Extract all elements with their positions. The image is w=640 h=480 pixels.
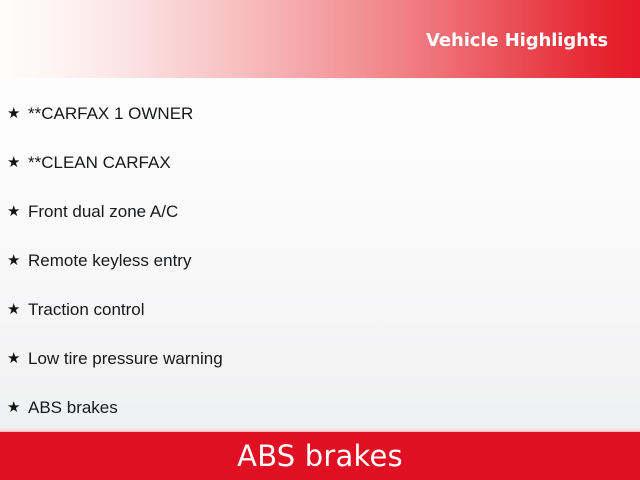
star-bullet-icon: ★	[7, 351, 28, 366]
footer-caption: ABS brakes	[237, 439, 403, 473]
star-bullet-icon: ★	[7, 302, 28, 317]
vehicle-highlights-slide: Vehicle Highlights ★ **CARFAX 1 OWNER ★ …	[0, 0, 640, 480]
list-item-label: ABS brakes	[28, 398, 118, 418]
list-item-label: **CLEAN CARFAX	[28, 153, 171, 173]
list-item: ★ **CARFAX 1 OWNER	[0, 89, 640, 138]
highlights-list: ★ **CARFAX 1 OWNER ★ **CLEAN CARFAX ★ Fr…	[0, 89, 640, 432]
header-banner: Vehicle Highlights	[0, 0, 640, 78]
list-item: ★ ABS brakes	[0, 383, 640, 432]
star-bullet-icon: ★	[7, 106, 28, 121]
list-item: ★ **CLEAN CARFAX	[0, 138, 640, 187]
list-item-label: Remote keyless entry	[28, 251, 191, 271]
star-bullet-icon: ★	[7, 155, 28, 170]
list-item-label: Front dual zone A/C	[28, 202, 178, 222]
list-item: ★ Front dual zone A/C	[0, 187, 640, 236]
star-bullet-icon: ★	[7, 253, 28, 268]
list-item: ★ Remote keyless entry	[0, 236, 640, 285]
star-bullet-icon: ★	[7, 204, 28, 219]
list-item-label: Traction control	[28, 300, 145, 320]
list-item: ★ Traction control	[0, 285, 640, 334]
star-bullet-icon: ★	[7, 400, 28, 415]
list-item-label: **CARFAX 1 OWNER	[28, 104, 193, 124]
list-item: ★ Low tire pressure warning	[0, 334, 640, 383]
footer-banner: ABS brakes	[0, 432, 640, 480]
list-item-label: Low tire pressure warning	[28, 349, 223, 369]
page-title: Vehicle Highlights	[426, 30, 608, 52]
highlights-panel: ★ **CARFAX 1 OWNER ★ **CLEAN CARFAX ★ Fr…	[0, 78, 640, 432]
